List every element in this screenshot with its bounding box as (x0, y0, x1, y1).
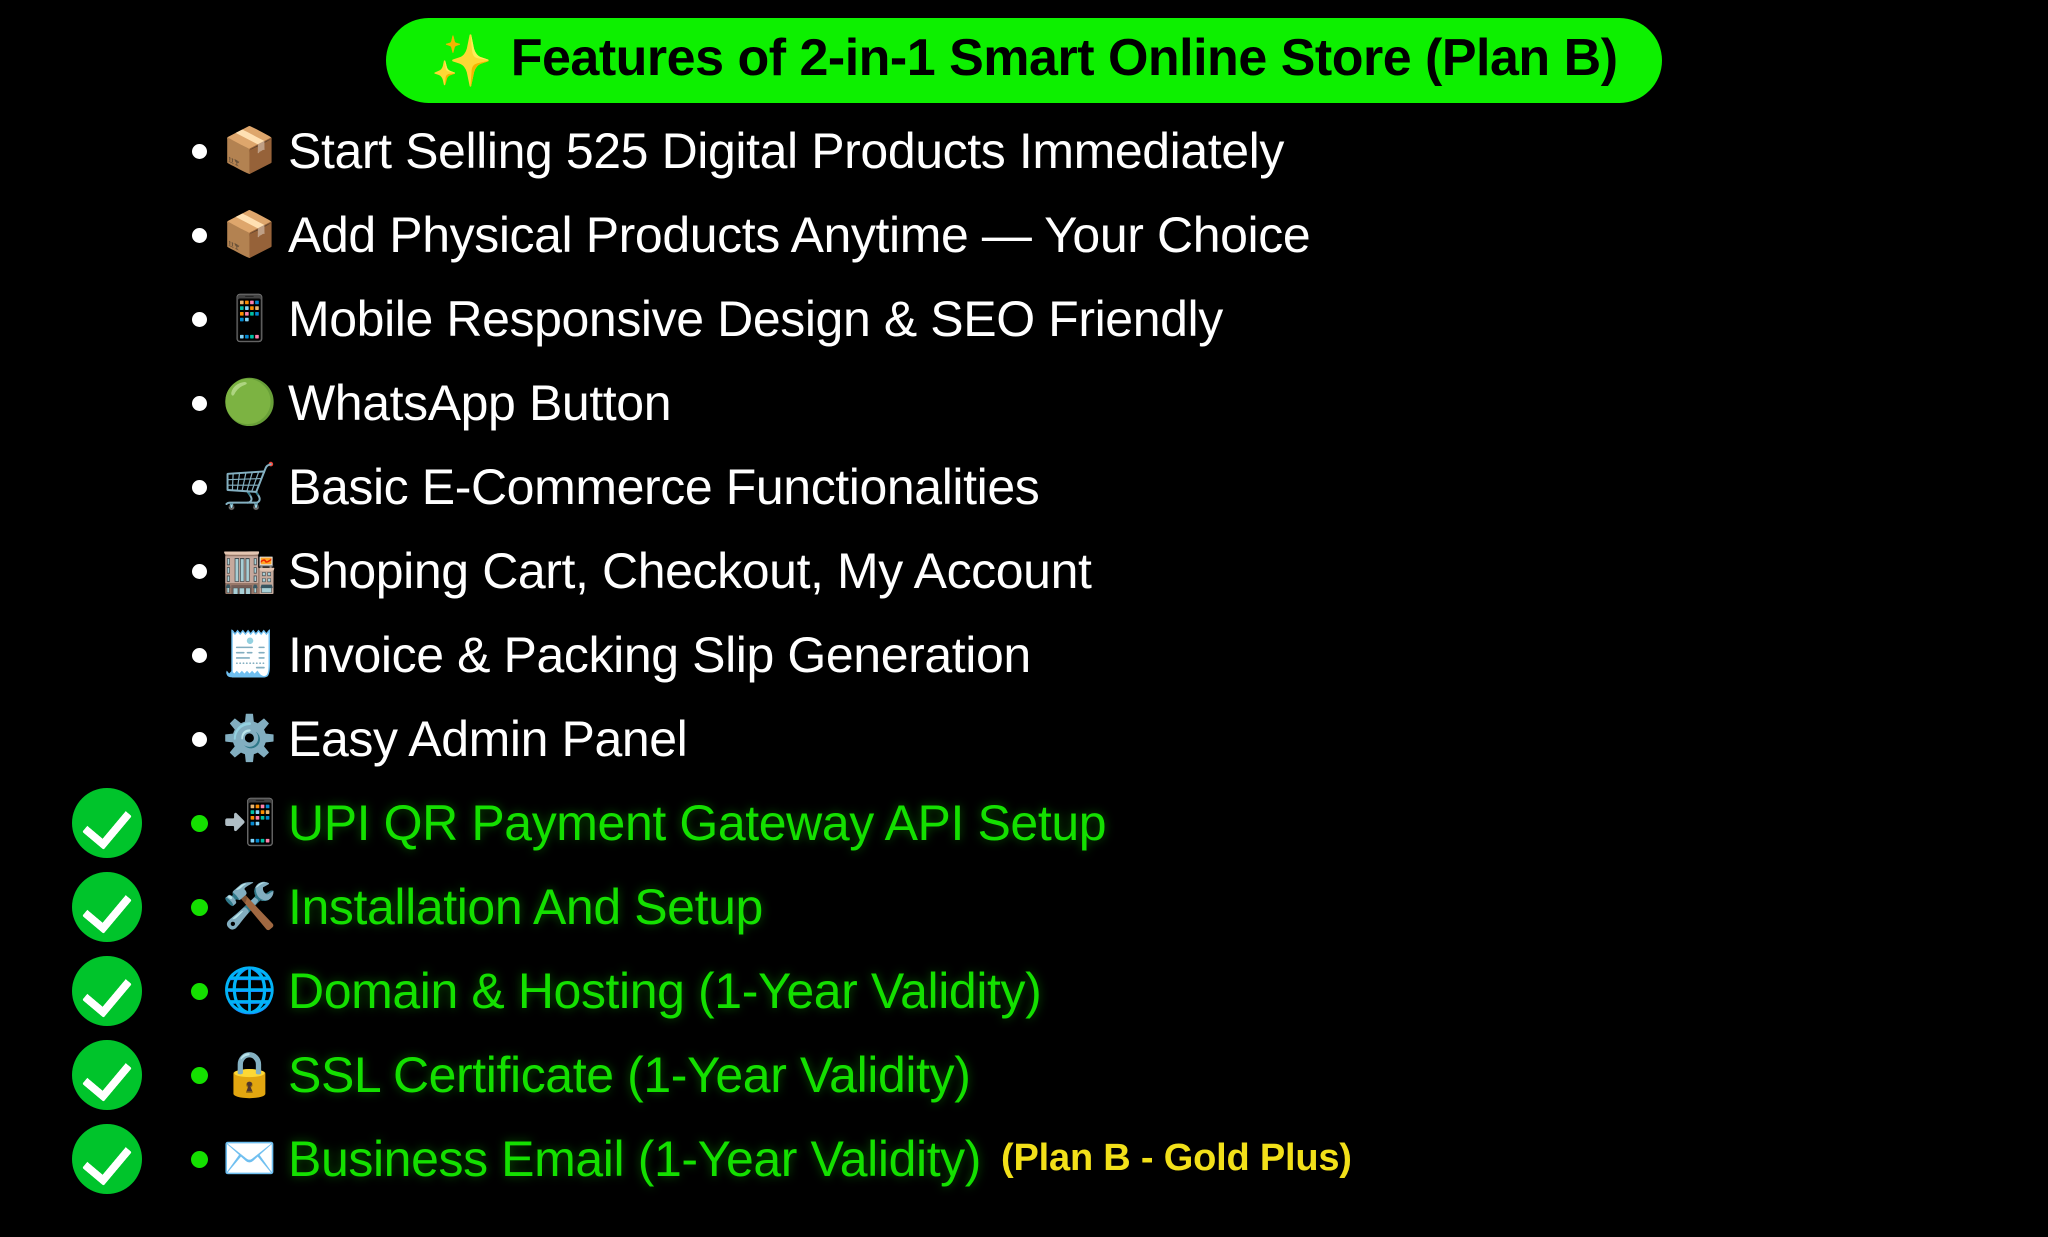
feature-item: 🏬Shoping Cart, Checkout, My Account (0, 529, 2048, 613)
check-slot (72, 284, 176, 354)
globe-icon: 🌐 (222, 969, 288, 1013)
feature-label: Mobile Responsive Design & SEO Friendly (288, 292, 1223, 347)
envelope-icon: ✉️ (222, 1137, 288, 1181)
check-slot (72, 368, 176, 438)
feature-item: 📦Start Selling 525 Digital Products Imme… (0, 109, 2048, 193)
feature-label: UPI QR Payment Gateway API Setup (288, 796, 1106, 851)
check-slot (72, 872, 176, 942)
check-mark-icon (72, 788, 142, 858)
hammer-and-wrench-icon: 🛠️ (222, 885, 288, 929)
lock-icon: 🔒 (222, 1053, 288, 1097)
bullet-icon (176, 899, 222, 916)
header-banner-row: ✨ Features of 2-in-1 Smart Online Store … (0, 0, 2048, 103)
check-slot (72, 704, 176, 774)
gear-icon: ⚙️ (222, 717, 288, 761)
check-slot (72, 620, 176, 690)
check-slot (72, 536, 176, 606)
feature-item: 🟢WhatsApp Button (0, 361, 2048, 445)
feature-label: Invoice & Packing Slip Generation (288, 628, 1031, 683)
check-slot (72, 1124, 176, 1194)
package-icon: 📦 (222, 213, 288, 257)
header-banner: ✨ Features of 2-in-1 Smart Online Store … (386, 18, 1661, 103)
bullet-icon (176, 1151, 222, 1168)
check-mark-icon (72, 1124, 142, 1194)
bullet-icon (176, 815, 222, 832)
feature-label: Start Selling 525 Digital Products Immed… (288, 124, 1284, 179)
sparkles-icon: ✨ (430, 36, 492, 86)
bullet-icon (176, 1067, 222, 1084)
check-slot (72, 956, 176, 1026)
check-mark-icon (72, 872, 142, 942)
feature-label: Basic E-Commerce Functionalities (288, 460, 1039, 515)
check-slot (72, 788, 176, 858)
mobile-phone-with-arrow-icon: 📲 (222, 801, 288, 845)
feature-item: 📲UPI QR Payment Gateway API Setup (0, 781, 2048, 865)
bullet-icon (176, 564, 222, 579)
feature-item: 🔒SSL Certificate (1-Year Validity) (0, 1033, 2048, 1117)
mobile-phone-icon: 📱 (222, 297, 288, 341)
feature-item: 🛠️Installation And Setup (0, 865, 2048, 949)
check-slot (72, 1040, 176, 1110)
feature-item: 🌐Domain & Hosting (1-Year Validity) (0, 949, 2048, 1033)
plan-tag-badge: (Plan B - Gold Plus) (1001, 1138, 1352, 1180)
feature-label: WhatsApp Button (288, 376, 671, 431)
bullet-icon (176, 480, 222, 495)
check-slot (72, 200, 176, 270)
check-mark-icon (72, 956, 142, 1026)
feature-list: 📦Start Selling 525 Digital Products Imme… (0, 109, 2048, 1201)
feature-item: ⚙️Easy Admin Panel (0, 697, 2048, 781)
shopping-cart-icon: 🛒 (222, 465, 288, 509)
feature-item: 🛒Basic E-Commerce Functionalities (0, 445, 2048, 529)
bullet-icon (176, 228, 222, 243)
page-title: Features of 2-in-1 Smart Online Store (P… (511, 28, 1618, 89)
feature-label: Business Email (1-Year Validity) (288, 1132, 981, 1187)
feature-item: 🧾Invoice & Packing Slip Generation (0, 613, 2048, 697)
package-icon: 📦 (222, 129, 288, 173)
feature-list-page: ✨ Features of 2-in-1 Smart Online Store … (0, 0, 2048, 1237)
feature-label: Shoping Cart, Checkout, My Account (288, 544, 1092, 599)
receipt-icon: 🧾 (222, 633, 288, 677)
bullet-icon (176, 983, 222, 1000)
feature-label: Add Physical Products Anytime — Your Cho… (288, 208, 1310, 263)
bullet-icon (176, 648, 222, 663)
bullet-icon (176, 144, 222, 159)
feature-item: 📦Add Physical Products Anytime — Your Ch… (0, 193, 2048, 277)
check-mark-icon (72, 1040, 142, 1110)
feature-label: Easy Admin Panel (288, 712, 687, 767)
feature-label: SSL Certificate (1-Year Validity) (288, 1048, 970, 1103)
green-circle-icon: 🟢 (222, 381, 288, 425)
feature-label: Domain & Hosting (1-Year Validity) (288, 964, 1041, 1019)
check-slot (72, 452, 176, 522)
bullet-icon (176, 396, 222, 411)
bullet-icon (176, 312, 222, 327)
department-store-icon: 🏬 (222, 549, 288, 593)
bullet-icon (176, 732, 222, 747)
feature-label: Installation And Setup (288, 880, 763, 935)
feature-item: ✉️Business Email (1-Year Validity)(Plan … (0, 1117, 2048, 1201)
check-slot (72, 116, 176, 186)
feature-item: 📱Mobile Responsive Design & SEO Friendly (0, 277, 2048, 361)
